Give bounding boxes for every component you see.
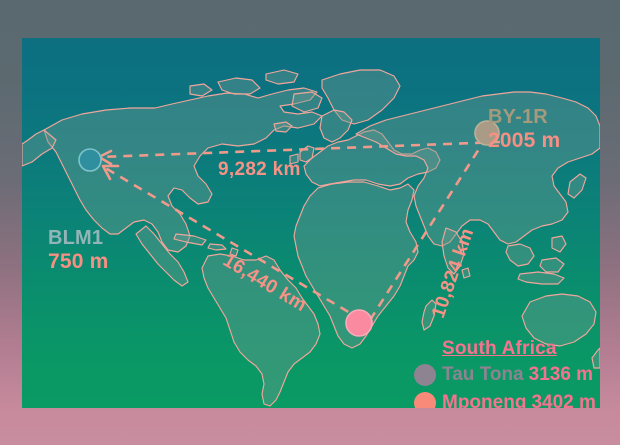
- site-label-by1r: BY-1R 2005 m: [488, 106, 560, 153]
- landmass-alaska: [22, 130, 56, 166]
- world-map-panel: BLM1 750 m BY-1R 2005 m 9,282 km 16,440 …: [22, 38, 600, 408]
- site-depth-by1r: 2005 m: [488, 129, 560, 153]
- landmass-scandinavia: [320, 110, 352, 142]
- legend-name-mponeng: Mponeng: [442, 392, 526, 409]
- site-depth-blm1: 750 m: [48, 250, 109, 274]
- figure-root: BLM1 750 m BY-1R 2005 m 9,282 km 16,440 …: [0, 0, 620, 445]
- legend-name-tau-tona: Tau Tona: [442, 364, 524, 386]
- landmass-arctic-island-2: [266, 70, 298, 84]
- landmass-borneo: [540, 258, 564, 272]
- legend-title: South Africa: [442, 338, 600, 360]
- landmass-arctic-island-3: [190, 84, 212, 96]
- legend-depth-mponeng: 3402 m: [531, 392, 595, 409]
- landmass-southeast-asia: [506, 244, 534, 266]
- legend-row-mponeng: Mponeng 3402 m: [414, 389, 600, 408]
- landmass-hispaniola: [208, 244, 226, 250]
- landmass-baffin: [292, 92, 322, 112]
- legend-south-africa: South Africa Tau Tona 3136 m Mponeng 340…: [414, 338, 600, 408]
- site-name-by1r: BY-1R: [488, 106, 560, 129]
- landmass-arctic-islands: [218, 78, 260, 94]
- site-name-blm1: BLM1: [48, 227, 109, 250]
- landmass-philippines: [552, 236, 566, 252]
- legend-depth-tau-tona: 3136 m: [529, 364, 593, 386]
- distance-label-blm1-by1r: 9,282 km: [218, 159, 301, 181]
- landmass-japan: [568, 174, 586, 198]
- landmass-indonesia: [518, 272, 564, 284]
- legend-row-tau-tona: Tau Tona 3136 m: [414, 361, 600, 388]
- legend-dot-tau-tona: [414, 364, 436, 386]
- marker-south-africa[interactable]: [346, 310, 372, 336]
- legend-dot-mponeng: [414, 392, 436, 409]
- marker-blm1[interactable]: [79, 149, 101, 171]
- site-label-blm1: BLM1 750 m: [48, 227, 109, 274]
